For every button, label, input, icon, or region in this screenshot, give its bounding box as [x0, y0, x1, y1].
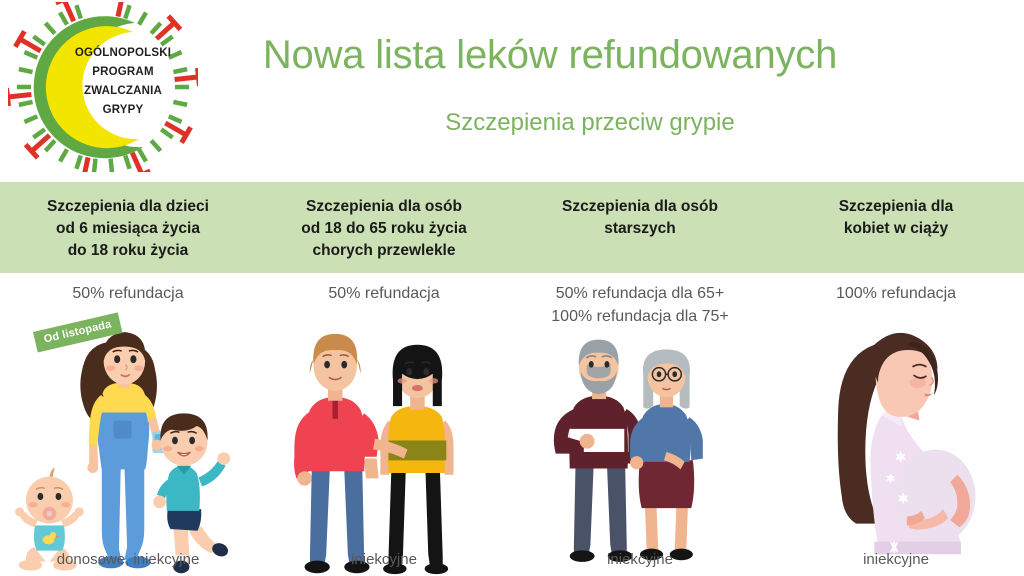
- column-seniors: Szczepienia dla osób starszych 50% refun…: [512, 182, 768, 576]
- heading-line: od 18 do 65 roku życia: [266, 218, 502, 240]
- heading-line: do 18 roku życia: [10, 240, 246, 262]
- refund-line: 50% refundacja: [328, 282, 439, 305]
- logo-text: OGÓLNOPOLSKI PROGRAM ZWALCZANIA GRYPY: [56, 44, 190, 120]
- page-subtitle: Szczepienia przeciw grypie: [240, 109, 940, 137]
- column-pregnant-refund: 100% refundacja: [836, 282, 956, 305]
- logo-line-3: ZWALCZANIA: [56, 82, 190, 101]
- column-adults-heading: Szczepienia dla osób od 18 do 65 roku ży…: [256, 182, 512, 273]
- column-pregnant-heading: Szczepienia dla kobiet w ciąży: [768, 182, 1024, 273]
- column-adults-chronic: Szczepienia dla osób od 18 do 65 roku ży…: [256, 182, 512, 576]
- page-title: Nowa lista leków refundowanych: [200, 33, 900, 78]
- refund-line: 50% refundacja: [72, 282, 183, 305]
- heading-line: od 6 miesiąca życia: [10, 218, 246, 240]
- column-children-refund: 50% refundacja: [72, 282, 183, 305]
- heading-line: Szczepienia dla dzieci: [10, 196, 246, 218]
- column-pregnant-footer: iniekcyjne: [768, 551, 1024, 568]
- heading-line: chorych przewlekle: [266, 240, 502, 262]
- column-seniors-heading: Szczepienia dla osób starszych: [512, 182, 768, 273]
- column-children-heading: Szczepienia dla dzieci od 6 miesiąca życ…: [0, 182, 256, 273]
- illustration-adult-couple: [256, 305, 512, 576]
- logo-line-4: GRYPY: [56, 101, 190, 120]
- column-children: Szczepienia dla dzieci od 6 miesiąca życ…: [0, 182, 256, 576]
- column-children-footer: donosowe, iniekcyjne: [0, 551, 256, 568]
- illustration-pregnant-woman: [768, 305, 1024, 576]
- heading-line: Szczepienia dla: [778, 196, 1014, 218]
- refund-line: 100% refundacja: [836, 282, 956, 305]
- heading-line: starszych: [522, 218, 758, 240]
- refund-line: 100% refundacja dla 75+: [551, 305, 728, 328]
- refund-line: 50% refundacja dla 65+: [551, 282, 728, 305]
- category-columns: Szczepienia dla dzieci od 6 miesiąca życ…: [0, 182, 1024, 576]
- logo-line-2: PROGRAM: [56, 63, 190, 82]
- heading-line: kobiet w ciąży: [778, 218, 1014, 240]
- column-seniors-refund: 50% refundacja dla 65+ 100% refundacja d…: [551, 282, 728, 328]
- heading-line: Szczepienia dla osób: [266, 196, 502, 218]
- column-adults-refund: 50% refundacja: [328, 282, 439, 305]
- illustration-elderly-couple: [512, 328, 768, 576]
- column-seniors-footer: iniekcyjne: [512, 551, 768, 568]
- heading-line: Szczepienia dla osób: [522, 196, 758, 218]
- program-logo: OGÓLNOPOLSKI PROGRAM ZWALCZANIA GRYPY: [8, 2, 198, 172]
- column-pregnant: Szczepienia dla kobiet w ciąży 100% refu…: [768, 182, 1024, 576]
- logo-line-1: OGÓLNOPOLSKI: [56, 44, 190, 63]
- column-adults-footer: iniekcyjne: [256, 551, 512, 568]
